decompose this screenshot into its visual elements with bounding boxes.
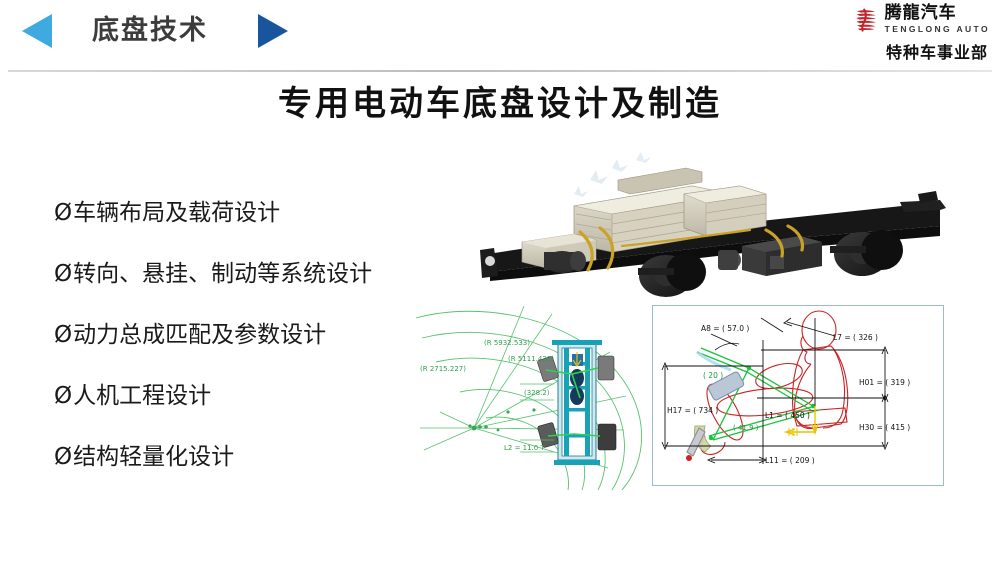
- svg-text:(R 5932.533): (R 5932.533): [484, 339, 530, 347]
- svg-text:(328.2): (328.2): [524, 389, 550, 397]
- page-title: 专用电动车底盘设计及制造: [0, 82, 1000, 126]
- list-item-label: 人机工程设计: [73, 381, 211, 411]
- svg-text:H01 = ( 319 ): H01 = ( 319 ): [859, 378, 910, 387]
- svg-text:(R 2715.227): (R 2715.227): [420, 365, 466, 373]
- bullet-marker-icon: Ø: [54, 259, 72, 289]
- brand-block: 腾龍汽车 TENGLONG AUTO 特种车事业部: [810, 4, 990, 63]
- bullet-marker-icon: Ø: [54, 442, 72, 472]
- tenglong-s-logo-icon: [853, 7, 879, 33]
- svg-text:( 41.9 ): ( 41.9 ): [733, 424, 759, 432]
- list-item: Ø 转向、悬挂、制动等系统设计: [54, 259, 434, 289]
- bullet-marker-icon: Ø: [54, 198, 72, 228]
- triangle-right-icon: [258, 14, 288, 48]
- svg-text:H17 = ( 734 ): H17 = ( 734 ): [667, 406, 718, 415]
- list-item: Ø 人机工程设计: [54, 381, 434, 411]
- list-item: Ø 动力总成匹配及参数设计: [54, 320, 434, 350]
- turning-circle-cad-drawing: (R 5932.533) (R 5111.431) (R 2715.227) (…: [412, 300, 662, 490]
- svg-text:( 20 ): ( 20 ): [703, 371, 723, 380]
- electric-chassis-render: [470, 150, 990, 310]
- list-item-label: 结构轻量化设计: [73, 442, 234, 472]
- svg-text:(R 5111.431): (R 5111.431): [508, 355, 554, 363]
- brand-logo-row: 腾龍汽车 TENGLONG AUTO: [810, 4, 990, 35]
- header-kicker-label: 底盘技术: [92, 14, 208, 48]
- brand-name-cn: 腾龍汽车: [885, 4, 990, 23]
- triangle-left-icon: [22, 14, 52, 48]
- svg-text:A8 = ( 57.0 ): A8 = ( 57.0 ): [701, 324, 749, 333]
- list-item-label: 动力总成匹配及参数设计: [73, 320, 326, 350]
- svg-text:L1 = ( 450 ): L1 = ( 450 ): [765, 411, 810, 420]
- slide-root: 底盘技术 腾龍汽车 TENGLONG AUTO 特种车事业部: [0, 0, 1000, 563]
- slide-header: 底盘技术 腾龍汽车 TENGLONG AUTO 特种车事业部: [0, 0, 1000, 72]
- svg-text:H30 = ( 415 ): H30 = ( 415 ): [859, 423, 910, 432]
- list-item-label: 车辆布局及载荷设计: [73, 198, 280, 228]
- brand-department-label: 特种车事业部: [810, 39, 990, 63]
- brand-name-en: TENGLONG AUTO: [885, 24, 990, 35]
- svg-text:L7 = ( 326 ): L7 = ( 326 ): [833, 333, 878, 342]
- svg-text:L2 = 11.0 T: L2 = 11.0 T: [504, 444, 545, 452]
- list-item: Ø 结构轻量化设计: [54, 442, 434, 472]
- bullet-marker-icon: Ø: [54, 381, 72, 411]
- bullet-list: Ø 车辆布局及载荷设计 Ø 转向、悬挂、制动等系统设计 Ø 动力总成匹配及参数设…: [54, 198, 434, 503]
- ergonomics-h-point-diagram: A8 = ( 57.0 ) L7 = ( 326 ) ( 20 ) H01 = …: [652, 305, 944, 486]
- list-item: Ø 车辆布局及载荷设计: [54, 198, 434, 228]
- list-item-label: 转向、悬挂、制动等系统设计: [73, 259, 372, 289]
- header-divider: [8, 70, 992, 72]
- bullet-marker-icon: Ø: [54, 320, 72, 350]
- svg-text:L11 = ( 209 ): L11 = ( 209 ): [765, 456, 815, 465]
- brand-names: 腾龍汽车 TENGLONG AUTO: [885, 4, 990, 35]
